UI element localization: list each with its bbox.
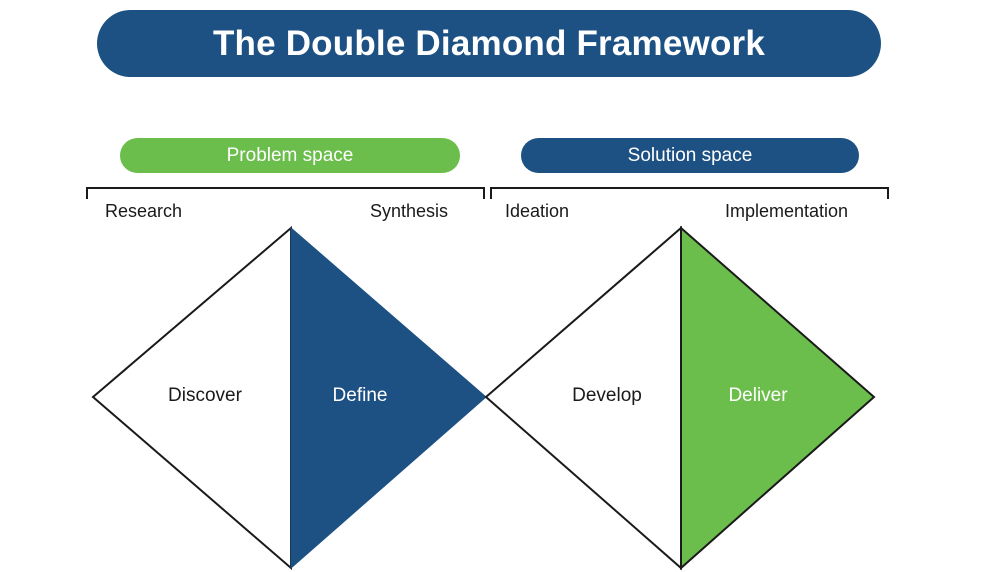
diamond-label-develop: Develop xyxy=(572,385,642,407)
diamond-label-define: Define xyxy=(333,385,388,407)
diamond-label-discover: Discover xyxy=(168,385,242,407)
double-diamond-diagram: The Double Diamond Framework Problem spa… xyxy=(0,0,1003,572)
define-half-shape xyxy=(291,228,486,568)
diamond-label-deliver: Deliver xyxy=(728,385,787,407)
diamond-shapes xyxy=(0,0,1003,572)
